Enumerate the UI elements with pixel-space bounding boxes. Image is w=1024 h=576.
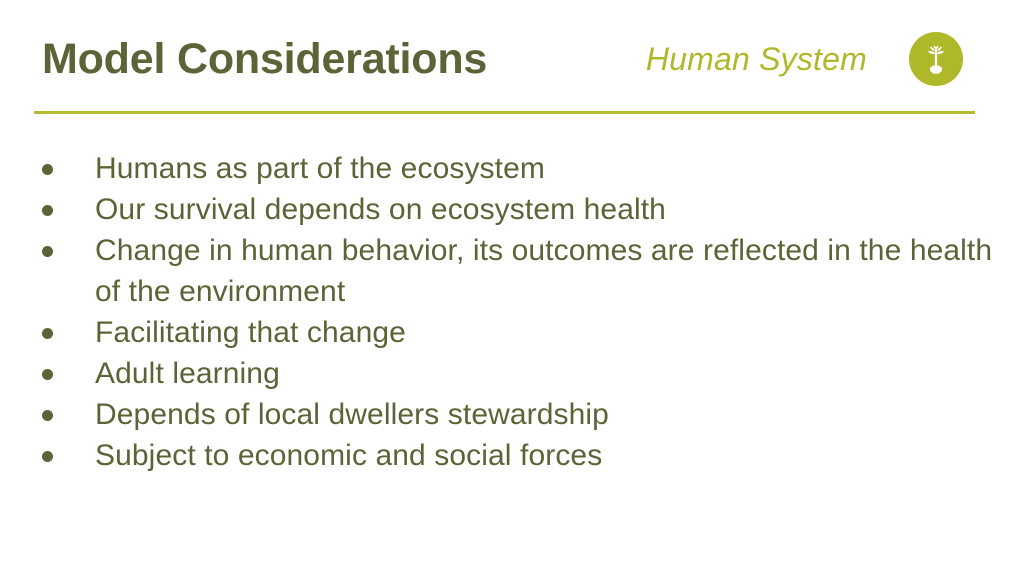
bullet-dot-icon — [42, 451, 53, 462]
title-divider-rule — [34, 111, 975, 114]
list-item-text: Change in human behavior, its outcomes a… — [95, 230, 1002, 312]
list-item-text: Our survival depends on ecosystem health — [95, 189, 1002, 230]
slide-header: Model Considerations Human System — [34, 28, 976, 90]
list-item-text: Humans as part of the ecosystem — [95, 148, 1002, 189]
list-item-text: Depends of local dwellers stewardship — [95, 394, 1002, 435]
shovel-plant-icon — [919, 42, 953, 76]
list-item: Facilitating that change — [42, 312, 1002, 353]
bullet-dot-icon — [42, 328, 53, 339]
presentation-slide: Model Considerations Human System — [0, 0, 1024, 576]
section-label: Human System — [646, 41, 867, 78]
list-item: Depends of local dwellers stewardship — [42, 394, 1002, 435]
bullet-dot-icon — [42, 205, 53, 216]
header-right-group: Human System — [646, 32, 976, 86]
list-item: Change in human behavior, its outcomes a… — [42, 230, 1002, 312]
list-item-text: Facilitating that change — [95, 312, 1002, 353]
list-item-text: Adult learning — [95, 353, 1002, 394]
bullet-dot-icon — [42, 246, 53, 257]
list-item: Humans as part of the ecosystem — [42, 148, 1002, 189]
list-item-text: Subject to economic and social forces — [95, 435, 1002, 476]
list-item: Subject to economic and social forces — [42, 435, 1002, 476]
bullet-dot-icon — [42, 369, 53, 380]
brand-logo — [909, 32, 963, 86]
page-title: Model Considerations — [34, 38, 487, 81]
list-item: Our survival depends on ecosystem health — [42, 189, 1002, 230]
bullet-dot-icon — [42, 164, 53, 175]
list-item: Adult learning — [42, 353, 1002, 394]
bullet-list: Humans as part of the ecosystem Our surv… — [42, 148, 1002, 476]
bullet-dot-icon — [42, 410, 53, 421]
